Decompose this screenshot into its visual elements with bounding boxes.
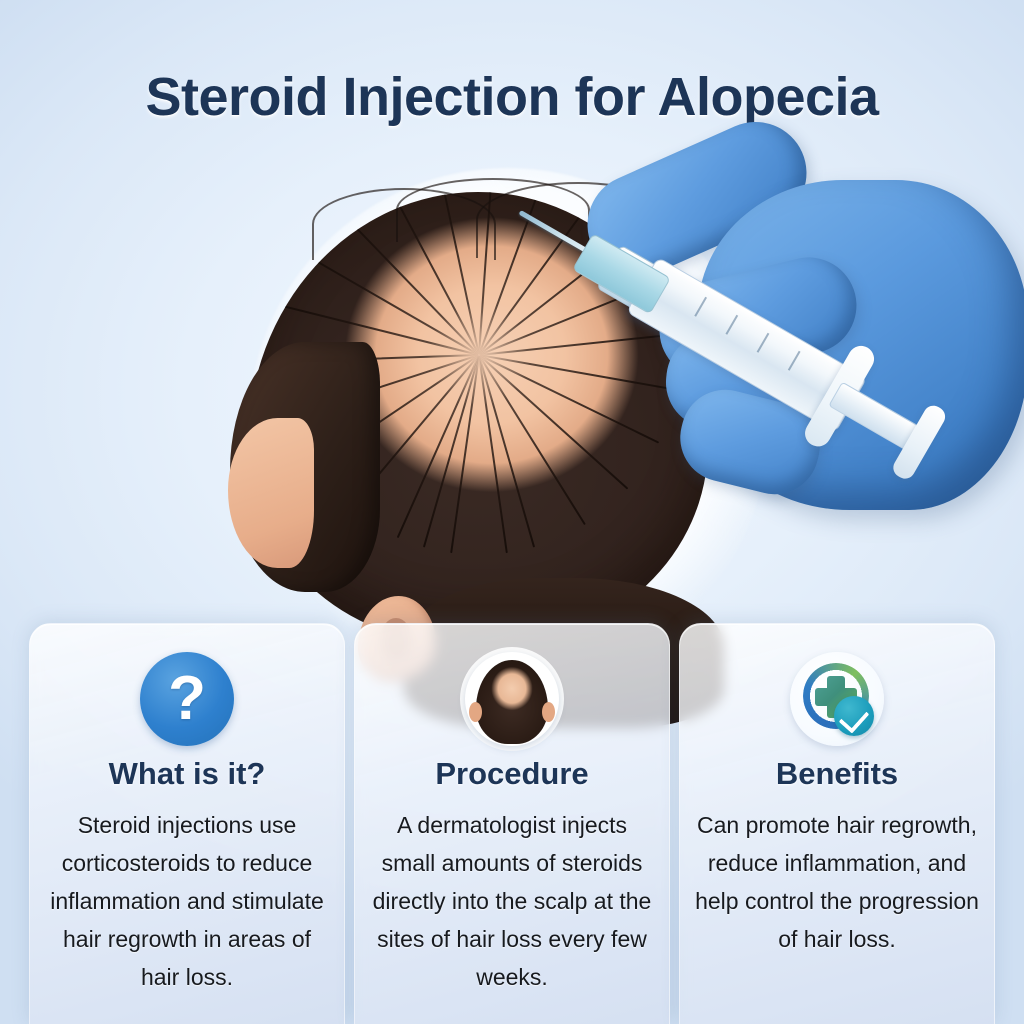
head-photo-frame bbox=[465, 652, 559, 746]
infographic-poster: Steroid Injection for Alopecia bbox=[0, 0, 1024, 1024]
page-title: Steroid Injection for Alopecia bbox=[0, 66, 1024, 128]
info-cards: ? What is it? Steroid injections use cor… bbox=[0, 623, 1024, 1024]
card-body: Steroid injections use corticosteroids t… bbox=[44, 806, 330, 996]
balding-head-photo-icon bbox=[465, 652, 559, 746]
ear-left-icon bbox=[469, 702, 482, 722]
medical-cross-check-icon bbox=[790, 652, 884, 746]
ear-right-icon bbox=[542, 702, 555, 722]
card-title: What is it? bbox=[44, 756, 330, 792]
check-badge-icon bbox=[834, 696, 874, 736]
head-photo bbox=[476, 660, 548, 744]
card-title: Benefits bbox=[694, 756, 980, 792]
card-title: Procedure bbox=[369, 756, 655, 792]
card-procedure[interactable]: Procedure A dermatologist injects small … bbox=[354, 623, 670, 1024]
card-what-is-it[interactable]: ? What is it? Steroid injections use cor… bbox=[29, 623, 345, 1024]
card-body: Can promote hair regrowth, reduce inflam… bbox=[694, 806, 980, 958]
question-mark-glyph: ? bbox=[140, 652, 234, 746]
benefits-badge bbox=[790, 652, 884, 746]
temple-skin bbox=[228, 418, 314, 568]
gloved-hand bbox=[548, 120, 1024, 540]
card-body: A dermatologist injects small amounts of… bbox=[369, 806, 655, 996]
card-benefits[interactable]: Benefits Can promote hair regrowth, redu… bbox=[679, 623, 995, 1024]
question-mark-icon: ? bbox=[140, 652, 234, 746]
hero-illustration bbox=[0, 130, 1024, 650]
